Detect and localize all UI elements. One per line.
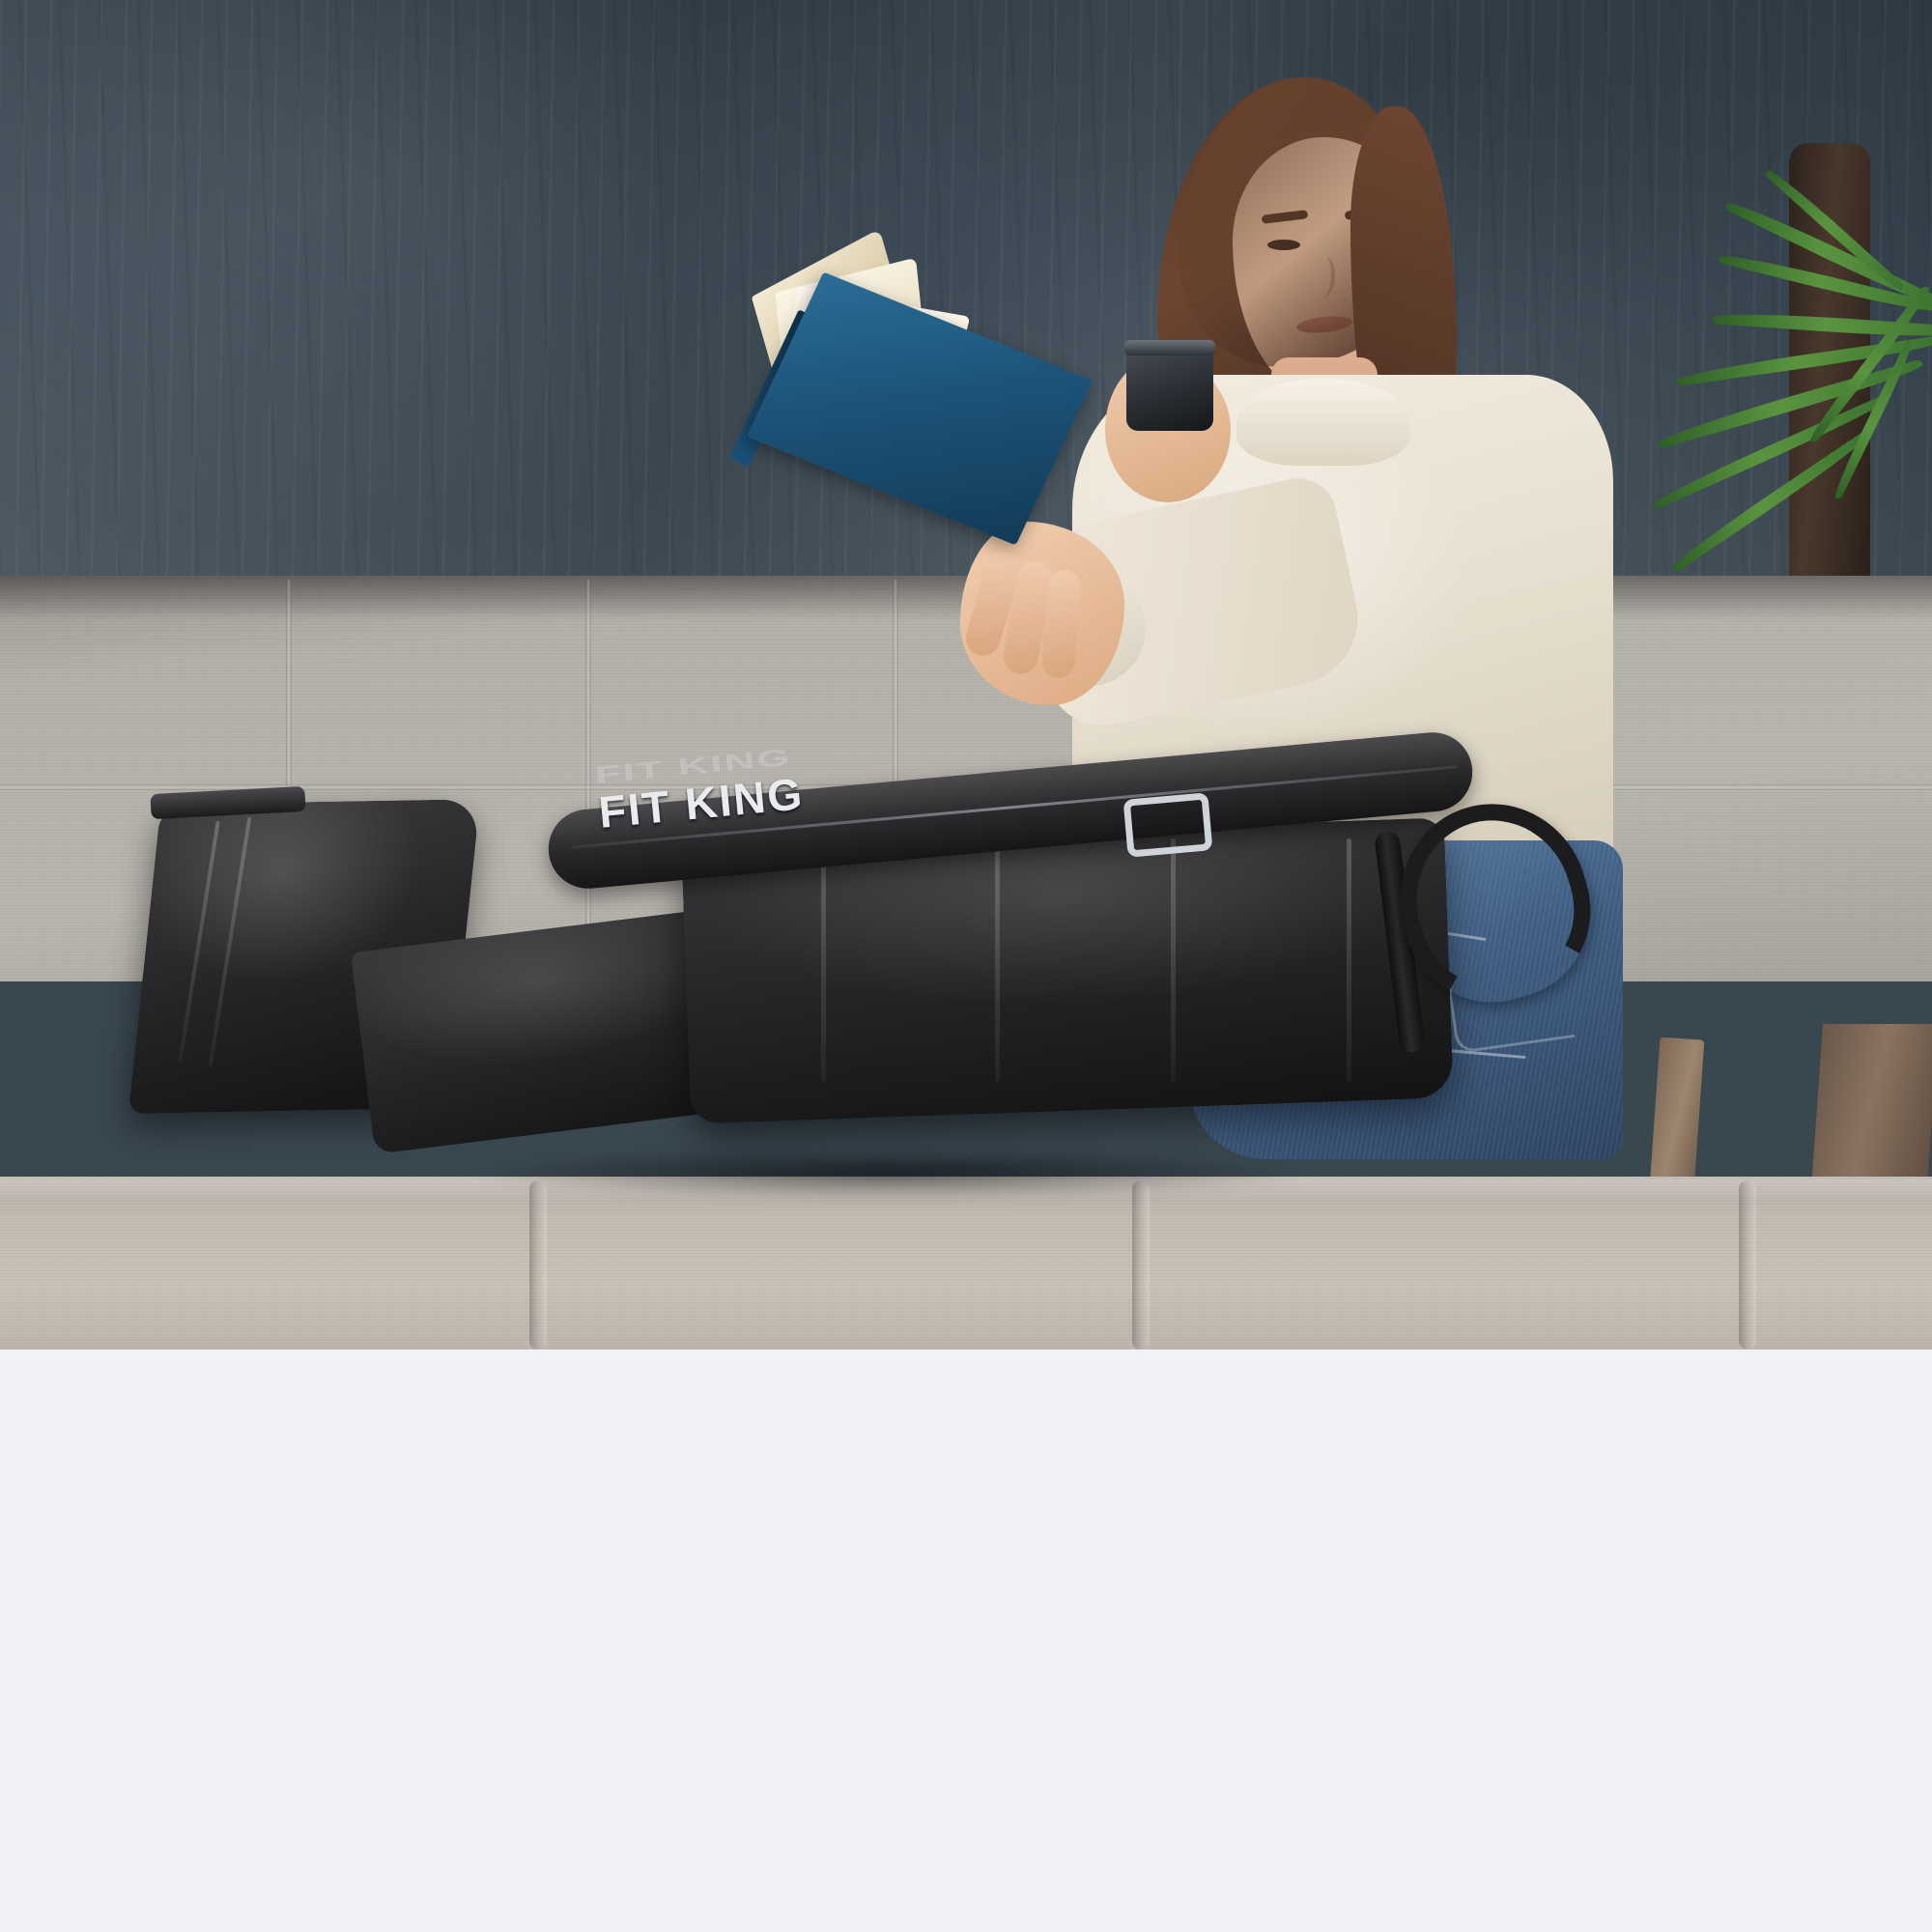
caption-panel: Blood Circulation Machine Providing dyna… — [0, 1350, 1932, 1932]
book — [753, 246, 1121, 575]
device-seam — [821, 838, 826, 1082]
device-shadow — [319, 1140, 1459, 1207]
sweater-collar — [1236, 379, 1410, 466]
device-seam — [1347, 838, 1351, 1082]
mug-rim — [1124, 340, 1215, 355]
device-buckle-icon — [1123, 792, 1213, 857]
device-seam — [1171, 838, 1176, 1082]
leg-massager-device: FIT KING FIT KING — [145, 811, 1546, 1236]
product-banner: FIT KING FIT KING Blood Circulation Mach… — [0, 0, 1932, 1932]
sofa-seat-seam — [1739, 1180, 1756, 1350]
hero-photo: FIT KING FIT KING — [0, 0, 1932, 1350]
device-seam — [995, 838, 1000, 1082]
